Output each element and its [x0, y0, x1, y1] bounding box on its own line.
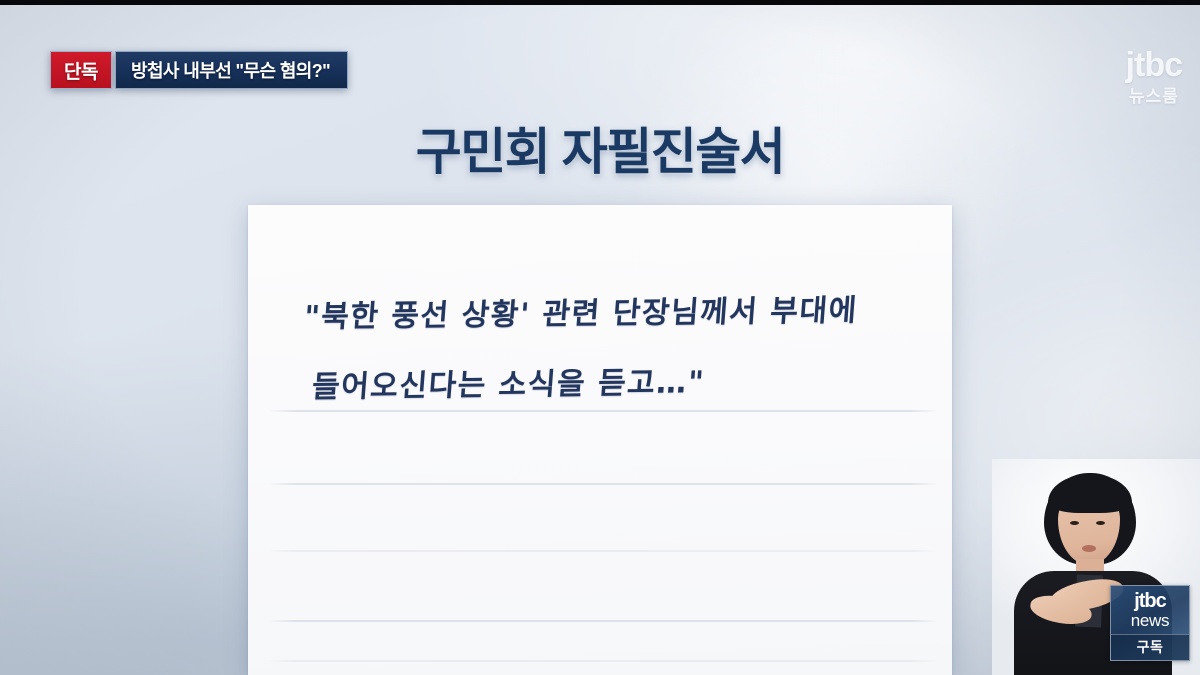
paper-rule-line [268, 483, 938, 485]
program-name-label: 뉴스룸 [1126, 88, 1182, 105]
news-label: news [1111, 612, 1189, 634]
paper-rule-line [268, 620, 938, 622]
subscribe-button[interactable]: 구독 [1111, 634, 1189, 660]
handwriting-line-1: "북한 풍선 상황' 관련 단장님께서 부대에 [301, 275, 925, 353]
handwriting-line-2: 들어오신다는 소식을 듣고…" [309, 346, 925, 423]
paper-rule-line [268, 550, 938, 552]
channel-watermark: jtbc 뉴스룸 [1126, 48, 1182, 105]
handwriting-block: "북한 풍선 상황' 관련 단장님께서 부대에 들어오신다는 소식을 듣고…" [304, 283, 922, 423]
subscribe-bug[interactable]: jtbc news 구독 [1110, 585, 1190, 661]
broadcast-frame: 단독 방첩사 내부선 "무슨 혐의?" jtbc 뉴스룸 구민회 자필진술서 "… [0, 0, 1200, 675]
interpreter-eye-left [1070, 521, 1079, 525]
letterbox-bar-top [0, 0, 1200, 5]
news-banner: 단독 방첩사 내부선 "무슨 혐의?" [50, 51, 348, 89]
interpreter-mouth [1082, 545, 1096, 552]
graphic-title: 구민회 자필진술서 [0, 112, 1200, 184]
exclusive-badge: 단독 [50, 51, 112, 89]
jtbc-logo: jtbc [1126, 48, 1182, 82]
handwritten-statement-document: "북한 풍선 상황' 관련 단장님께서 부대에 들어오신다는 소식을 듣고…" [248, 205, 952, 675]
banner-headline: 방첩사 내부선 "무슨 혐의?" [115, 51, 348, 89]
interpreter-eye-right [1096, 521, 1105, 525]
paper-rule-line [268, 660, 938, 662]
jtbc-news-logo: jtbc [1111, 591, 1189, 612]
